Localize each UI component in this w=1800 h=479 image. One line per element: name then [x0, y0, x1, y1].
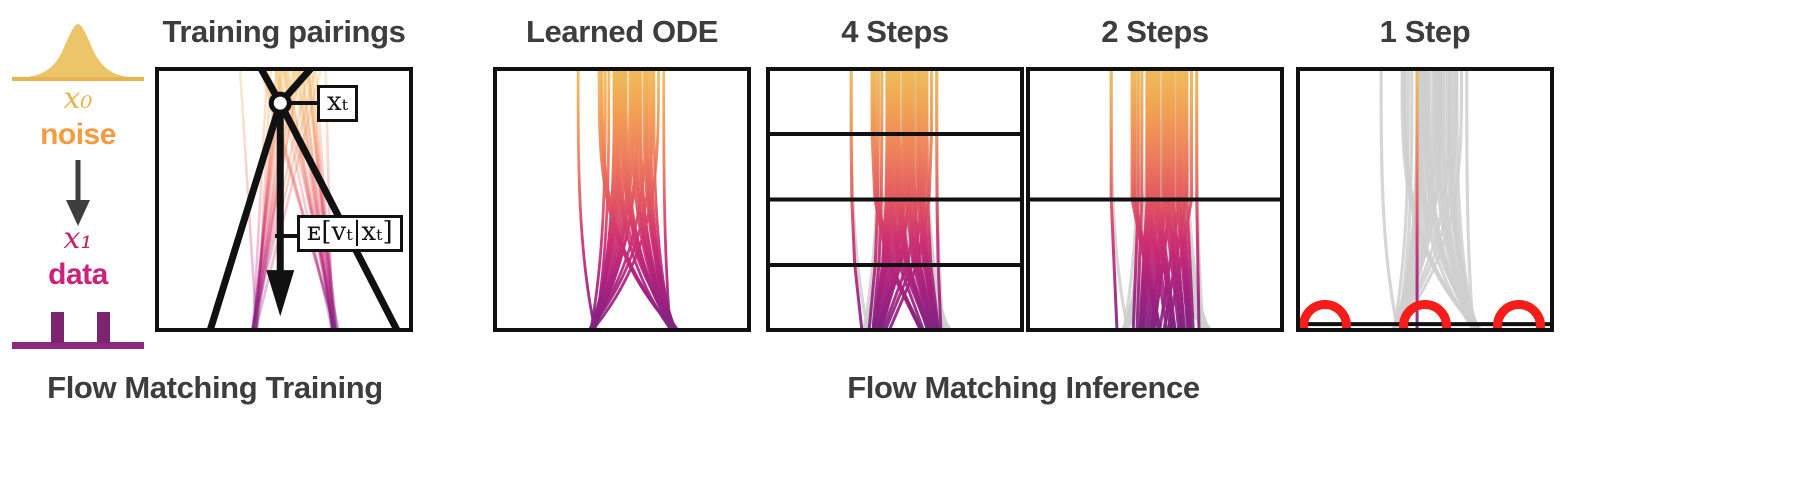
- panel-4-steps[interactable]: [766, 67, 1024, 332]
- xt-connector: [287, 101, 321, 105]
- panel-title-2-steps: 2 Steps: [1026, 16, 1284, 47]
- noise-label: noise: [8, 120, 148, 150]
- down-arrow-icon: [8, 158, 148, 230]
- data-label: data: [8, 260, 148, 290]
- panel-title-training-pairings: Training pairings: [155, 16, 413, 47]
- caption-flow-matching-training: Flow Matching Training: [0, 372, 430, 403]
- x1-label: x₁: [8, 224, 148, 254]
- panel-title-1-step: 1 Step: [1296, 16, 1554, 47]
- xt-annotation-box-text: xₜ: [327, 87, 348, 117]
- two-spikes-icon: [8, 300, 148, 352]
- panel-title-4-steps: 4 Steps: [766, 16, 1024, 47]
- panel-1-step[interactable]: [1296, 67, 1554, 332]
- gaussian-bump-icon: [8, 16, 148, 88]
- vt-annotation-box: ᴇ[vₜ|xₜ]: [297, 215, 403, 252]
- panel-2-steps[interactable]: [1026, 67, 1284, 332]
- caption-flow-matching-inference: Flow Matching Inference: [493, 372, 1554, 403]
- panel-training-pairings[interactable]: xₜᴇ[vₜ|xₜ]: [155, 67, 413, 332]
- vt-annotation-box-text: ᴇ[vₜ|xₜ]: [307, 217, 393, 247]
- panel-learned-ode[interactable]: [493, 67, 751, 332]
- xt-annotation-box: xₜ: [317, 85, 358, 122]
- distribution-legend: x₀ noise x₁ data: [8, 8, 148, 353]
- figure-root: x₀ noise x₁ data Training pairings Learn…: [0, 0, 1800, 479]
- panel-title-learned-ode: Learned ODE: [493, 16, 751, 47]
- x0-label: x₀: [8, 84, 148, 114]
